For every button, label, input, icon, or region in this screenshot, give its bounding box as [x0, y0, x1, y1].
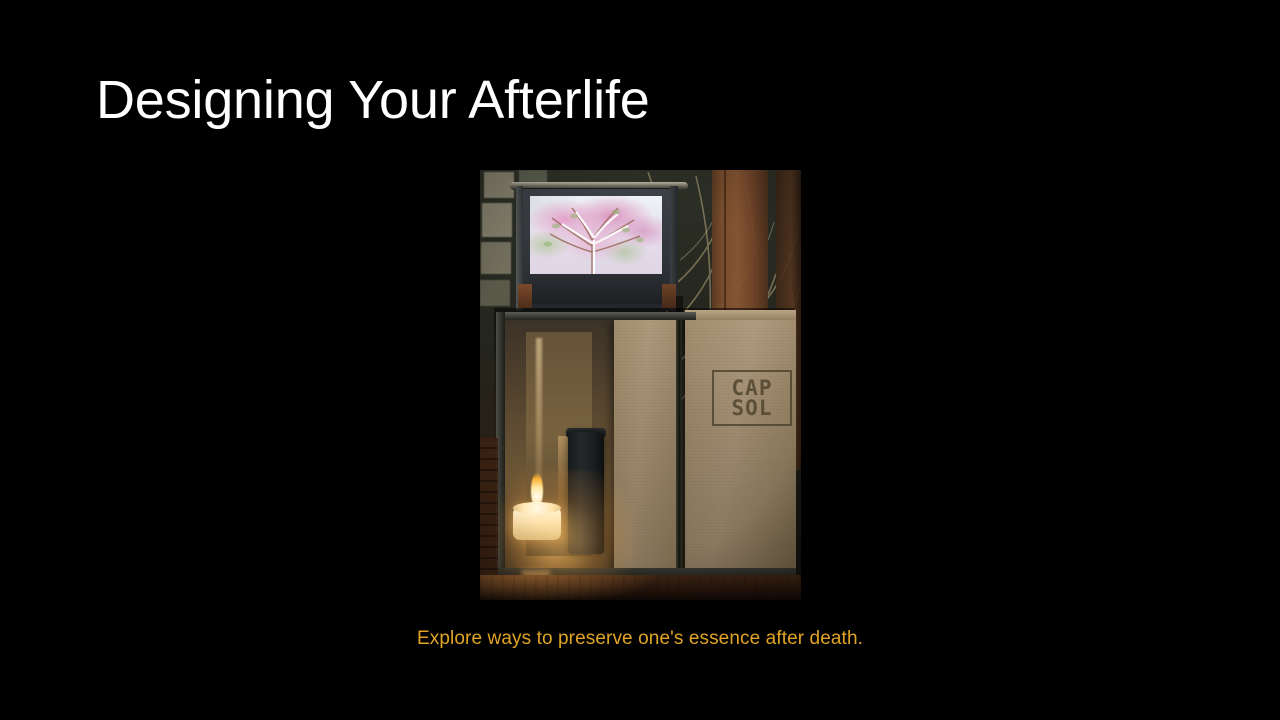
- page-title: Designing Your Afterlife: [96, 70, 996, 130]
- floor-grain: [480, 575, 801, 600]
- cap-sol-stamp: CAP SOL: [712, 370, 792, 426]
- cabinet-vertical-rail: [676, 312, 682, 580]
- stamp-line-2: SOL: [732, 398, 773, 418]
- window-pane: [481, 242, 511, 274]
- image-caption: Explore ways to preserve one's essence a…: [0, 628, 1280, 650]
- cabinet-frame-top: [496, 312, 696, 320]
- slide-canvas: Designing Your Afterlife: [0, 0, 1280, 720]
- window-pane: [482, 203, 512, 237]
- window-pane: [480, 280, 510, 306]
- stamp-line-1: CAP: [732, 378, 773, 398]
- display-base: [530, 274, 662, 304]
- wall-wainscot: [480, 438, 498, 578]
- cage-foot-right: [662, 284, 676, 308]
- candle-wax-top: [513, 502, 561, 514]
- display-screen: [530, 196, 662, 274]
- cage-foot-left: [518, 284, 532, 308]
- cardboard-texture: [614, 320, 796, 572]
- slide-image: CAP SOL: [480, 170, 801, 600]
